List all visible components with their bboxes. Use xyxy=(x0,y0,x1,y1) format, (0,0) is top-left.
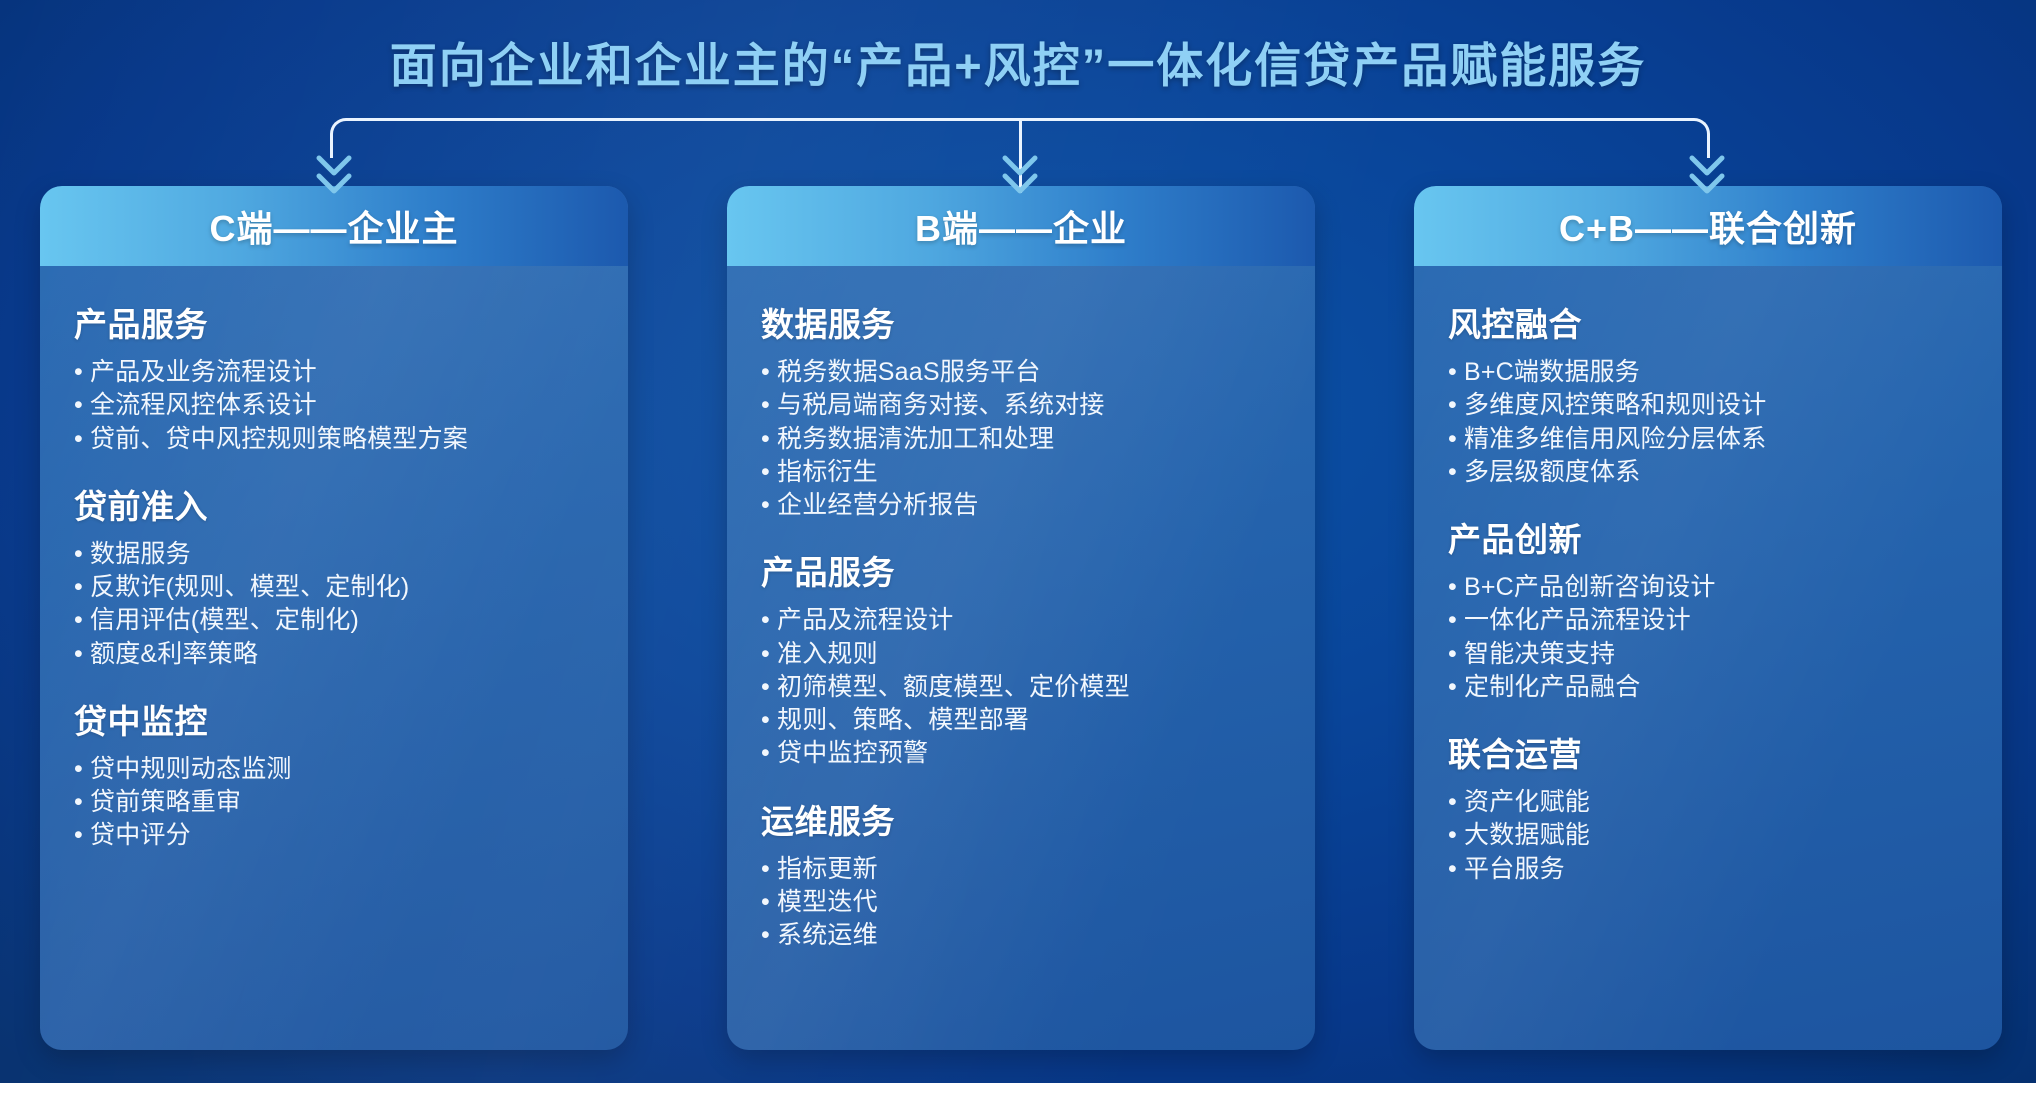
bullet-list: 税务数据SaaS服务平台 与税局端商务对接、系统对接 税务数据清洗加工和处理 指… xyxy=(761,356,1281,522)
double-chevron-down-icon xyxy=(997,152,1043,204)
group-product-service: 产品服务 产品及业务流程设计 全流程风控体系设计 贷前、贷中风控规则策略模型方案 xyxy=(74,298,594,456)
bullet-list: B+C产品创新咨询设计 一体化产品流程设计 智能决策支持 定制化产品融合 xyxy=(1448,571,1968,704)
bullet-list: 贷中规则动态监测 贷前策略重审 贷中评分 xyxy=(74,753,594,853)
group-title: 运维服务 xyxy=(761,795,1281,843)
list-item: 贷前、贷中风控规则策略模型方案 xyxy=(74,423,594,456)
list-item: 贷中监控预警 xyxy=(761,737,1281,770)
list-item: 数据服务 xyxy=(74,538,594,571)
list-item: 智能决策支持 xyxy=(1448,638,1968,671)
card-header-title: B端——企业 xyxy=(915,200,1127,252)
list-item: 多层级额度体系 xyxy=(1448,456,1968,489)
list-item: 多维度风控策略和规则设计 xyxy=(1448,389,1968,422)
double-chevron-down-icon xyxy=(311,152,357,204)
list-item: 一体化产品流程设计 xyxy=(1448,604,1968,637)
list-item: 规则、策略、模型部署 xyxy=(761,704,1281,737)
list-item: 初筛模型、额度模型、定价模型 xyxy=(761,671,1281,704)
list-item: 贷前策略重审 xyxy=(74,786,594,819)
group-data-service: 数据服务 税务数据SaaS服务平台 与税局端商务对接、系统对接 税务数据清洗加工… xyxy=(761,298,1281,522)
card-content: 产品服务 产品及业务流程设计 全流程风控体系设计 贷前、贷中风控规则策略模型方案… xyxy=(40,266,628,853)
group-joint-operation: 联合运营 资产化赋能 大数据赋能 平台服务 xyxy=(1448,728,1968,886)
group-title: 产品服务 xyxy=(761,546,1281,594)
list-item: 贷中规则动态监测 xyxy=(74,753,594,786)
bullet-list: 资产化赋能 大数据赋能 平台服务 xyxy=(1448,786,1968,886)
list-item: 全流程风控体系设计 xyxy=(74,389,594,422)
group-title: 数据服务 xyxy=(761,298,1281,346)
card-content: 数据服务 税务数据SaaS服务平台 与税局端商务对接、系统对接 税务数据清洗加工… xyxy=(727,266,1315,952)
bullet-list: 产品及流程设计 准入规则 初筛模型、额度模型、定价模型 规则、策略、模型部署 贷… xyxy=(761,604,1281,770)
list-item: 贷中评分 xyxy=(74,819,594,852)
list-item: 产品及流程设计 xyxy=(761,604,1281,637)
list-item: 产品及业务流程设计 xyxy=(74,356,594,389)
group-title: 贷中监控 xyxy=(74,695,594,743)
list-item: 税务数据清洗加工和处理 xyxy=(761,423,1281,456)
list-item: 与税局端商务对接、系统对接 xyxy=(761,389,1281,422)
double-chevron-down-icon xyxy=(1684,152,1730,204)
page-title: 面向企业和企业主的“产品+风控”一体化信贷产品赋能服务 xyxy=(0,27,2036,96)
card-b-duan[interactable]: B端——企业 数据服务 税务数据SaaS服务平台 与税局端商务对接、系统对接 税… xyxy=(727,186,1315,1050)
bullet-list: 指标更新 模型迭代 系统运维 xyxy=(761,853,1281,953)
list-item: 资产化赋能 xyxy=(1448,786,1968,819)
card-header-title: C端——企业主 xyxy=(210,200,459,252)
list-item: 企业经营分析报告 xyxy=(761,489,1281,522)
card-content: 风控融合 B+C端数据服务 多维度风控策略和规则设计 精准多维信用风险分层体系 … xyxy=(1414,266,2002,886)
group-preloan-admission: 贷前准入 数据服务 反欺诈(规则、模型、定制化) 信用评估(模型、定制化) 额度… xyxy=(74,480,594,671)
list-item: 指标更新 xyxy=(761,853,1281,886)
group-title: 产品创新 xyxy=(1448,513,1968,561)
group-ops-service: 运维服务 指标更新 模型迭代 系统运维 xyxy=(761,795,1281,953)
list-item: 指标衍生 xyxy=(761,456,1281,489)
group-product-service: 产品服务 产品及流程设计 准入规则 初筛模型、额度模型、定价模型 规则、策略、模… xyxy=(761,546,1281,770)
list-item: 模型迭代 xyxy=(761,886,1281,919)
bullet-list: 产品及业务流程设计 全流程风控体系设计 贷前、贷中风控规则策略模型方案 xyxy=(74,356,594,456)
list-item: 大数据赋能 xyxy=(1448,819,1968,852)
slide-root: 面向企业和企业主的“产品+风控”一体化信贷产品赋能服务 xyxy=(0,0,2036,1110)
group-title: 产品服务 xyxy=(74,298,594,346)
card-header-title: C+B——联合创新 xyxy=(1559,200,1857,252)
list-item: 额度&利率策略 xyxy=(74,638,594,671)
list-item: 平台服务 xyxy=(1448,853,1968,886)
list-item: 反欺诈(规则、模型、定制化) xyxy=(74,571,594,604)
bullet-list: 数据服务 反欺诈(规则、模型、定制化) 信用评估(模型、定制化) 额度&利率策略 xyxy=(74,538,594,671)
group-risk-fusion: 风控融合 B+C端数据服务 多维度风控策略和规则设计 精准多维信用风险分层体系 … xyxy=(1448,298,1968,489)
list-item: 信用评估(模型、定制化) xyxy=(74,604,594,637)
list-item: 定制化产品融合 xyxy=(1448,671,1968,704)
card-c-plus-b[interactable]: C+B——联合创新 风控融合 B+C端数据服务 多维度风控策略和规则设计 精准多… xyxy=(1414,186,2002,1050)
group-title: 联合运营 xyxy=(1448,728,1968,776)
list-item: 准入规则 xyxy=(761,638,1281,671)
bullet-list: B+C端数据服务 多维度风控策略和规则设计 精准多维信用风险分层体系 多层级额度… xyxy=(1448,356,1968,489)
card-c-duan[interactable]: C端——企业主 产品服务 产品及业务流程设计 全流程风控体系设计 贷前、贷中风控… xyxy=(40,186,628,1050)
slide-canvas: 面向企业和企业主的“产品+风控”一体化信贷产品赋能服务 xyxy=(0,0,2036,1083)
list-item: 系统运维 xyxy=(761,919,1281,952)
group-inloan-monitoring: 贷中监控 贷中规则动态监测 贷前策略重审 贷中评分 xyxy=(74,695,594,853)
group-title: 贷前准入 xyxy=(74,480,594,528)
list-item: 税务数据SaaS服务平台 xyxy=(761,356,1281,389)
list-item: B+C产品创新咨询设计 xyxy=(1448,571,1968,604)
list-item: B+C端数据服务 xyxy=(1448,356,1968,389)
group-title: 风控融合 xyxy=(1448,298,1968,346)
group-product-innovation: 产品创新 B+C产品创新咨询设计 一体化产品流程设计 智能决策支持 定制化产品融… xyxy=(1448,513,1968,704)
list-item: 精准多维信用风险分层体系 xyxy=(1448,423,1968,456)
